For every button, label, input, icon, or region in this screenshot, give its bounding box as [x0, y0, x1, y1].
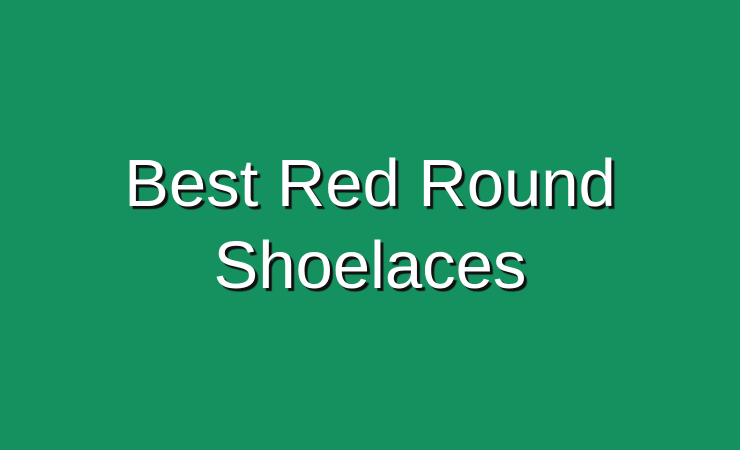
title-banner: Best Red Round Shoelaces: [0, 0, 740, 450]
title-line-2: Shoelaces: [24, 225, 716, 307]
title-block: Best Red Round Shoelaces: [0, 143, 740, 307]
title-line-1: Best Red Round: [24, 143, 716, 225]
page-title: Best Red Round Shoelaces: [24, 143, 716, 307]
